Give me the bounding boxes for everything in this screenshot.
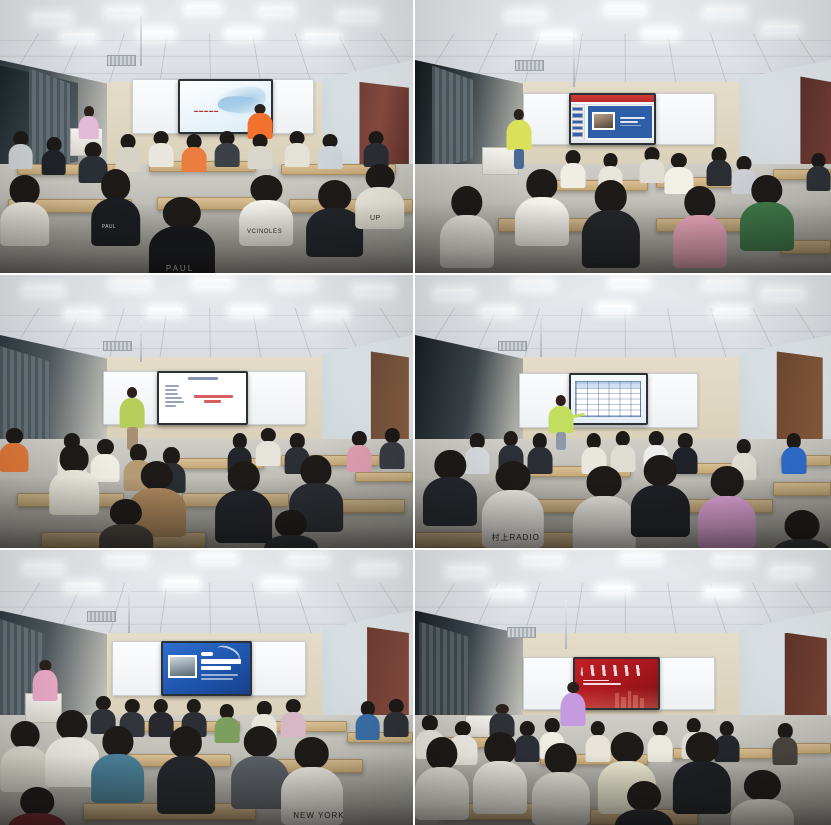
student-foreground: UP	[355, 164, 405, 230]
slide-bullet	[165, 389, 177, 391]
ceiling-lamp	[598, 305, 631, 312]
student	[347, 431, 372, 472]
ppt-title-bar	[571, 95, 654, 102]
slide-title	[188, 377, 218, 381]
ppt-thumbnail	[572, 132, 583, 137]
student-foreground	[673, 186, 727, 268]
slide-bullet	[165, 401, 184, 403]
student	[806, 153, 831, 191]
slide-subline	[201, 678, 232, 680]
slide-bullet	[165, 397, 182, 399]
ppt-slide-stage	[588, 106, 652, 138]
student-foreground	[50, 444, 100, 515]
ceiling-lamp	[186, 5, 219, 12]
ceiling-lamp	[706, 8, 743, 16]
slide-content	[159, 373, 246, 424]
ceiling-lamp	[66, 583, 99, 590]
slide-badge	[201, 652, 212, 656]
presentation-screen[interactable]	[569, 373, 648, 425]
student-foreground	[99, 499, 153, 548]
ppt-thumbnail	[572, 113, 583, 118]
student	[355, 701, 380, 740]
slide-bullet	[165, 405, 176, 407]
collage-panel-1[interactable]: ▬▬▬▬▬ PAUL	[0, 0, 413, 273]
shirt-text: NEW YORK	[293, 811, 344, 820]
ceiling-lamp	[598, 586, 631, 593]
student-desk	[355, 472, 413, 483]
ppt-slide-headline	[620, 117, 646, 119]
ppt-slide-subline	[620, 125, 642, 126]
student-foreground	[581, 180, 639, 267]
ceiling-lamp	[227, 30, 260, 37]
student-foreground	[731, 770, 793, 825]
ceiling-lamp	[107, 8, 140, 15]
slide-content	[571, 95, 654, 143]
student	[363, 131, 388, 166]
slide-building	[640, 698, 644, 707]
student-foreground	[91, 726, 145, 803]
ceiling-lamp	[644, 30, 677, 37]
slide-headline	[201, 659, 241, 664]
student-foreground: PAUL	[149, 197, 215, 273]
ceiling-lamp	[231, 308, 264, 315]
ceiling-lamp	[706, 280, 743, 287]
student-foreground: PAUL	[91, 169, 141, 245]
presentation-screen[interactable]	[573, 657, 660, 709]
slide-calligraphy-title	[580, 665, 647, 676]
ceiling-lamp	[448, 567, 485, 575]
student-foreground	[473, 732, 527, 815]
student-foreground	[264, 510, 318, 548]
ceiling-lamp	[289, 556, 326, 563]
ceiling-lamp	[490, 589, 523, 596]
air-conditioner-vent	[515, 60, 544, 71]
ceiling-lamp	[33, 14, 70, 22]
slide-building	[628, 691, 631, 708]
student-foreground: VCINOLES	[240, 175, 294, 246]
student	[384, 699, 409, 738]
student-foreground	[573, 466, 635, 548]
student-desk	[773, 482, 831, 496]
ceiling-lamp	[359, 564, 396, 572]
ppt-thumbnail	[572, 126, 583, 131]
student-foreground	[531, 743, 589, 825]
shirt-text: PAUL	[102, 224, 116, 230]
student	[41, 137, 66, 175]
ceiling-lamp	[436, 289, 473, 297]
ceiling-lamp	[277, 280, 314, 287]
curtain	[432, 66, 474, 170]
screen-stand	[198, 694, 215, 696]
ceiling-lamp	[198, 554, 235, 561]
ceiling-lamp	[264, 580, 297, 587]
student	[8, 131, 33, 169]
ceiling-lamp	[107, 556, 144, 563]
air-conditioner-vent	[103, 341, 132, 352]
ceiling-lamp	[540, 33, 573, 40]
student-foreground	[631, 455, 689, 537]
slide-skyline	[575, 687, 658, 707]
ceiling-lamp	[606, 5, 643, 13]
presentation-screen[interactable]	[161, 641, 252, 696]
student	[318, 134, 343, 169]
student-foreground	[440, 186, 494, 268]
ppt-thumbnail-panel	[571, 105, 585, 140]
presentation-screen[interactable]	[569, 93, 656, 145]
screen-stand	[601, 423, 616, 425]
ceiling-lamp	[715, 308, 748, 315]
ceiling-lamp	[62, 33, 95, 40]
ppt-thumbnail	[572, 107, 583, 112]
ceiling-lamp	[764, 25, 797, 32]
student	[149, 131, 174, 166]
slide-building	[633, 695, 639, 707]
ceiling-lamp	[339, 11, 376, 19]
ceiling-lamp	[611, 279, 648, 286]
ceiling-lamp	[25, 564, 62, 572]
student-foreground	[698, 466, 756, 548]
air-conditioner-vent	[107, 55, 136, 66]
presenter-center	[507, 109, 532, 169]
collage-panel-5[interactable]: NEW YORK	[0, 550, 413, 825]
student-foreground	[0, 721, 50, 793]
ceiling-lamp	[306, 33, 339, 40]
student-foreground: NEW YORK	[281, 737, 343, 825]
slide-bullet	[165, 393, 178, 395]
shirt-text: UP	[370, 215, 381, 222]
ppt-thumbnail	[572, 120, 583, 125]
slide-group-photo	[168, 655, 197, 678]
student-foreground: 村上RADIO	[482, 461, 544, 548]
presenter-center	[120, 387, 145, 450]
student	[706, 147, 731, 185]
collage-panel-2[interactable]	[415, 0, 831, 273]
student-foreground	[0, 175, 50, 246]
ceiling-lamp	[515, 280, 552, 287]
projector-rod	[565, 600, 567, 650]
presenter-left	[33, 660, 58, 701]
ceiling-lamp	[764, 289, 801, 297]
air-conditioner-vent	[87, 611, 116, 622]
air-conditioner-vent	[507, 627, 536, 638]
student-foreground	[515, 169, 569, 245]
air-conditioner-vent	[498, 341, 527, 352]
ceiling-lamp	[314, 310, 347, 317]
shirt-text: VCINOLES	[247, 229, 282, 235]
projector-rod	[573, 38, 575, 87]
student	[380, 428, 405, 469]
slide-building	[615, 693, 619, 707]
student	[248, 134, 273, 169]
student-foreground	[615, 781, 673, 825]
slide-subline	[201, 674, 237, 676]
slide-subtitle	[583, 683, 621, 685]
student	[116, 134, 141, 172]
ceiling-lamp	[165, 580, 198, 587]
projector-rod	[540, 308, 542, 357]
student-foreground	[423, 450, 477, 526]
slide-table-header	[575, 381, 641, 388]
slide-bullet	[165, 385, 179, 387]
ceiling-lamp	[355, 286, 392, 294]
slide-building	[621, 697, 626, 708]
photo-collage: ▬▬▬▬▬ PAUL	[0, 0, 831, 825]
shirt-text: PAUL	[166, 264, 194, 273]
ceiling-lamp	[149, 308, 182, 315]
ceiling-lamp	[507, 11, 544, 19]
presenter-left	[78, 106, 99, 139]
presentation-screen[interactable]	[157, 371, 248, 426]
ceiling-lamp	[66, 310, 99, 317]
student-foreground	[415, 737, 469, 820]
ceiling-lamp	[140, 30, 173, 37]
student	[215, 131, 240, 166]
projector-rod	[128, 583, 130, 633]
screen-stand	[194, 423, 211, 425]
student	[182, 134, 207, 172]
student	[773, 723, 798, 764]
ppt-slide-photo	[592, 112, 615, 130]
slide-caption: ▬▬▬▬▬	[194, 109, 219, 113]
ceiling-lamp	[523, 556, 560, 563]
student	[640, 147, 665, 182]
student-foreground	[157, 726, 215, 814]
ceiling-lamp	[112, 280, 149, 287]
ceiling-lamp	[194, 279, 231, 286]
collage-panel-3[interactable]	[0, 275, 413, 548]
collage-panel-4[interactable]: 村上RADIO	[415, 275, 831, 548]
ceiling-lamp	[715, 556, 752, 563]
collage-panel-6[interactable]	[415, 550, 831, 825]
student-foreground	[773, 510, 831, 548]
student	[781, 433, 806, 474]
ceiling-lamp	[706, 589, 739, 596]
slide-highlight	[204, 400, 221, 403]
slide-highlight	[194, 395, 233, 398]
ceiling-lamp	[623, 554, 660, 561]
slide-content	[575, 659, 658, 707]
student-foreground	[739, 175, 793, 251]
slide-subtitle	[583, 680, 610, 682]
ceiling-lamp	[25, 286, 62, 294]
slide-headline	[201, 666, 231, 670]
ceiling-lamp	[482, 308, 515, 315]
ppt-slide-headline	[620, 121, 638, 123]
ceiling-lamp	[260, 7, 293, 14]
screen-stand	[608, 708, 625, 710]
shirt-text: 村上RADIO	[492, 532, 540, 543]
student	[285, 131, 310, 166]
projector-rod	[140, 16, 142, 65]
student	[0, 428, 29, 472]
student-foreground	[673, 732, 731, 815]
ceiling-lamp	[773, 567, 810, 575]
screen-stand	[604, 143, 621, 145]
student-foreground	[8, 787, 66, 825]
projector-rod	[140, 319, 142, 363]
slide-content	[163, 643, 250, 694]
